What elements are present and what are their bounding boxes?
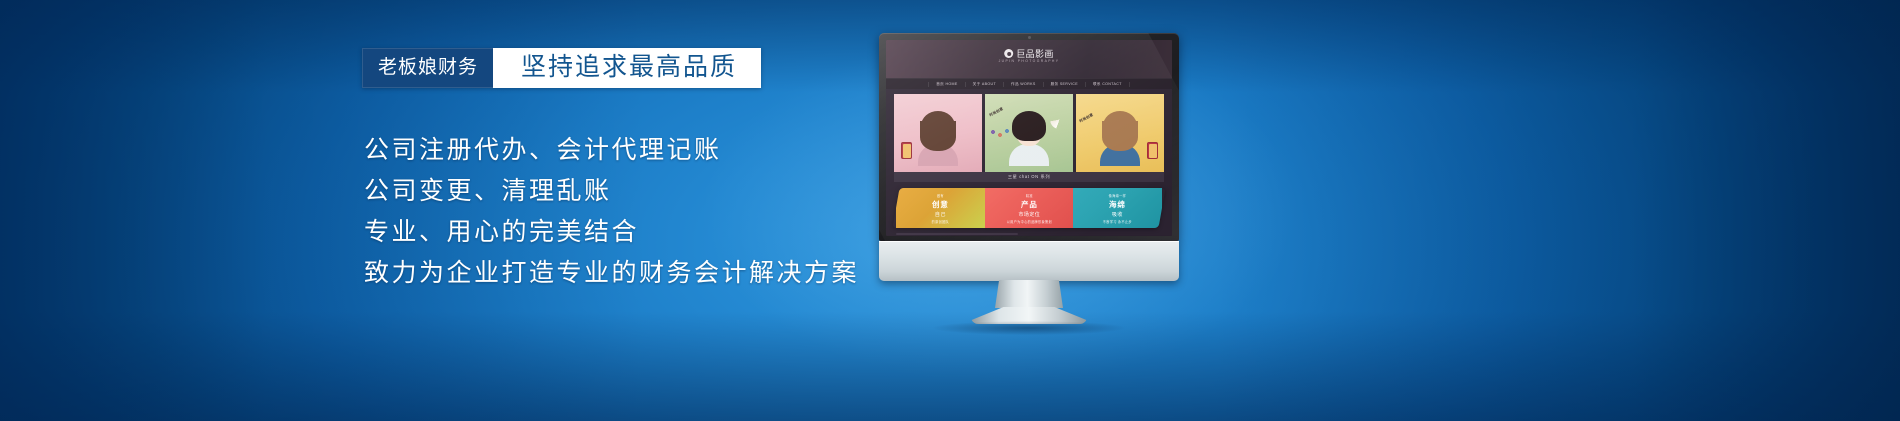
gallery-item-1[interactable] [894,94,982,172]
tagline: 老板娘财务 坚持追求最高品质 [362,48,761,88]
panel-3-top: 像海绵一样 [1109,193,1126,198]
gallery-item-3[interactable]: 时尚创意 [1076,94,1164,172]
website-logo-subtitle: JUPIN PHOTOGRAPHY [999,59,1060,63]
service-line-2: 公司变更、清理乱账 [364,179,859,204]
camera-lens-icon [1004,49,1013,58]
website-nav[interactable]: 首页 HOME 关于 ABOUT 作品 WORKS 服务 SERVICE 联系 … [886,78,1172,89]
nav-item-service[interactable]: 服务 SERVICE [1044,82,1086,87]
service-line-1: 公司注册代办、会计代理记账 [364,138,859,163]
feature-panel-1[interactable]: 做有 创意 自己 的原创团队 [896,188,985,228]
monitor-chin [879,241,1179,281]
panel-3-bottom: 不断学习 永不止步 [1103,219,1132,224]
phone-prop-icon [901,142,912,159]
website-gallery: 时尚创意 时尚创意 [886,89,1172,172]
webcam-icon [1028,36,1031,39]
monitor-stand-neck [995,280,1063,308]
model-figure-1 [918,115,958,166]
panel-1-title: 创意 [932,199,949,210]
tagline-slogan: 坚持追求最高品质 [493,48,761,88]
model-figure-3 [1100,115,1140,166]
gallery-item-2[interactable]: 时尚创意 [985,94,1073,172]
panel-2-title: 产品 [1021,199,1038,210]
website-footer [886,233,1172,236]
monitor-shadow [933,321,1125,335]
feature-panel-3[interactable]: 像海绵一样 海绵 吸收 不断学习 永不止步 [1073,188,1162,228]
panel-2-bottom: 以用户为中心的品牌形象策划 [1006,219,1051,224]
feature-panel-2[interactable]: 精准 产品 市场定位 以用户为中心的品牌形象策划 [985,188,1074,228]
gallery-overlay-3: 时尚创意 [1079,113,1095,125]
panel-3-mid: 吸收 [1112,211,1123,218]
model-figure-2 [1009,115,1049,166]
gallery-caption: 三星 chat ON 系列 [894,172,1164,182]
footer-placeholder-line [896,233,1018,235]
panel-2-mid: 市场定位 [1018,211,1040,218]
tagline-brand: 老板娘财务 [362,48,493,88]
nav-item-about[interactable]: 关于 ABOUT [966,82,1004,87]
panel-1-bottom: 的原创团队 [932,219,949,224]
phone-prop-icon-2 [1147,142,1158,159]
nav-item-contact[interactable]: 联系 CONTACT [1086,82,1130,87]
panel-2-top: 精准 [1026,193,1033,198]
nav-item-home[interactable]: 首页 HOME [928,82,965,87]
panel-1-top: 做有 [937,193,944,198]
website-header: 巨品影画 JUPIN PHOTOGRAPHY [886,40,1172,78]
service-line-4: 致力为企业打造专业的财务会计解决方案 [364,261,859,286]
gallery-overlay-2: 时尚创意 [989,107,1005,119]
monitor-bezel: 巨品影画 JUPIN PHOTOGRAPHY 首页 HOME 关于 ABOUT … [879,33,1179,241]
panel-1-mid: 自己 [935,211,946,218]
feature-panels: 做有 创意 自己 的原创团队 精准 产品 市场定位 以用户为中心的品牌形象策划 [892,188,1165,228]
panel-3-title: 海绵 [1109,199,1126,210]
hero-banner: 老板娘财务 坚持追求最高品质 公司注册代办、会计代理记账 公司变更、清理乱账 专… [0,0,1900,421]
feature-panels-wrap: 做有 创意 自己 的原创团队 精准 产品 市场定位 以用户为中心的品牌形象策划 [886,182,1172,228]
service-line-3: 专业、用心的完美结合 [364,220,859,245]
monitor-screen: 巨品影画 JUPIN PHOTOGRAPHY 首页 HOME 关于 ABOUT … [886,40,1172,236]
service-lines: 公司注册代办、会计代理记账 公司变更、清理乱账 专业、用心的完美结合 致力为企业… [364,138,859,286]
fan-prop-icon [1050,110,1069,129]
doodle-icon [989,118,1015,140]
imac-illustration: 巨品影画 JUPIN PHOTOGRAPHY 首页 HOME 关于 ABOUT … [879,33,1179,311]
nav-item-works[interactable]: 作品 WORKS [1004,82,1044,87]
